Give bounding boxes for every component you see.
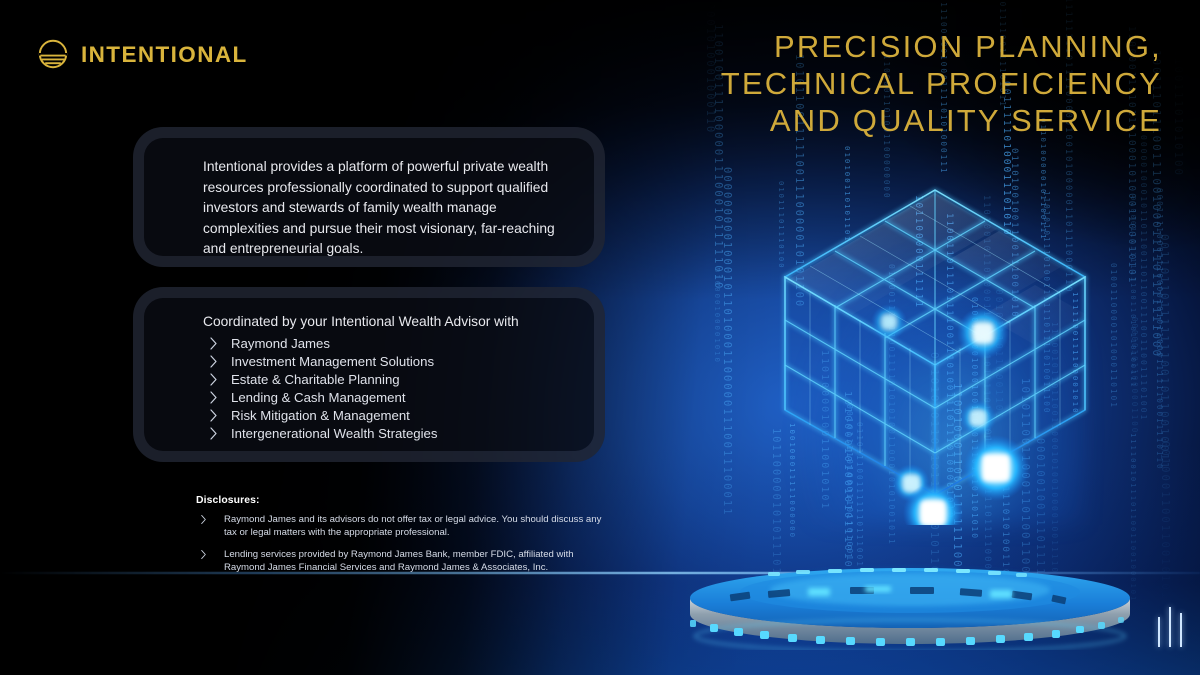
chevron-right-icon <box>209 354 218 369</box>
headline-line-1: PRECISION PLANNING, <box>602 28 1162 65</box>
services-list: Raymond JamesInvestment Management Solut… <box>203 335 572 443</box>
disclosure-item-text: Lending services provided by Raymond Jam… <box>224 549 574 573</box>
service-list-item-label: Risk Mitigation & Management <box>231 408 410 423</box>
service-list-item-label: Investment Management Solutions <box>231 354 434 369</box>
services-heading: Coordinated by your Intentional Wealth A… <box>203 312 572 332</box>
binary-rain-column: 001000110011001010110010111111001100 <box>1159 441 1170 620</box>
disclosures-title: Disclosures: <box>196 495 604 506</box>
disclosure-item: Raymond James and its advisors do not of… <box>196 513 604 539</box>
service-list-item: Estate & Charitable Planning <box>203 371 572 389</box>
disclosures-list: Raymond James and its advisors do not of… <box>196 513 604 574</box>
headline-line-3: AND QUALITY SERVICE <box>602 102 1162 139</box>
service-list-item-label: Lending & Cash Management <box>231 390 405 405</box>
sun-horizon-icon <box>36 38 70 72</box>
chevron-right-icon <box>209 426 218 441</box>
brand-logo[interactable]: INTENTIONAL <box>36 38 248 72</box>
headline-line-2: TECHNICAL PROFICIENCY <box>602 65 1162 102</box>
page-title: PRECISION PLANNING, TECHNICAL PROFICIENC… <box>602 28 1162 139</box>
services-card: Coordinated by your Intentional Wealth A… <box>133 287 605 462</box>
intro-card: Intentional provides a platform of power… <box>133 127 605 267</box>
service-list-item: Risk Mitigation & Management <box>203 407 572 425</box>
disclosures-section: Disclosures: Raymond James and its advis… <box>196 495 604 583</box>
service-list-item-label: Intergenerational Wealth Strategies <box>231 426 438 441</box>
service-list-item: Lending & Cash Management <box>203 389 572 407</box>
chevron-right-icon <box>209 390 218 405</box>
service-list-item-label: Estate & Charitable Planning <box>231 372 400 387</box>
service-list-item: Investment Management Solutions <box>203 353 572 371</box>
platform-svg <box>660 560 1160 650</box>
wireframe-cube-artwork <box>735 165 1135 525</box>
brand-name: INTENTIONAL <box>81 42 248 68</box>
corner-accent-bars <box>1158 607 1182 647</box>
chevron-right-icon <box>209 336 218 351</box>
service-list-item: Raymond James <box>203 335 572 353</box>
chevron-right-icon <box>200 549 207 560</box>
service-list-item: Intergenerational Wealth Strategies <box>203 425 572 443</box>
intro-paragraph: Intentional provides a platform of power… <box>203 157 572 260</box>
service-list-item-label: Raymond James <box>231 336 330 351</box>
chevron-right-icon <box>209 372 218 387</box>
slide-canvas: 0001001001110111101101001111010100110111… <box>0 0 1200 675</box>
glowing-platform <box>660 560 1160 650</box>
chevron-right-icon <box>200 514 207 525</box>
disclosure-item-text: Raymond James and its advisors do not of… <box>224 514 601 538</box>
disclosure-item: Lending services provided by Raymond Jam… <box>196 548 604 574</box>
cube-wireframe-svg <box>735 165 1135 525</box>
binary-rain-column: 1011000110011101010100 <box>1173 0 1184 177</box>
chevron-right-icon <box>209 408 218 423</box>
